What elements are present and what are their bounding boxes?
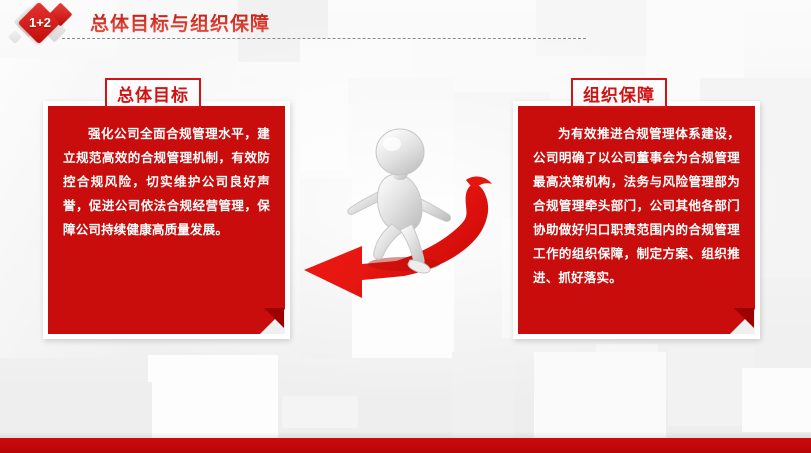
page-title: 总体目标与组织保障 (90, 9, 270, 36)
folded-corner-triangle (734, 308, 754, 328)
card-body-overall-goal: 强化公司全面合规管理水平，建立规范高效的合规管理机制，有效防控合规风险，切实维护… (43, 101, 290, 339)
card-text-organizational-guarantee: 为有效推进合规管理体系建设，公司明确了以公司董事会为合规管理最高决策机构，法务与… (533, 122, 740, 290)
logo-diamond-gray-small (8, 30, 22, 44)
folded-corner-icon (259, 308, 285, 334)
card-inner-organizational-guarantee: 为有效推进合规管理体系建设，公司明确了以公司董事会为合规管理最高决策机构，法务与… (518, 106, 755, 334)
figure-torso (378, 174, 422, 232)
header-divider (62, 38, 586, 39)
folded-corner-triangle (264, 308, 284, 328)
card-title-label: 组织保障 (583, 81, 655, 106)
card-title-organizational-guarantee: 组织保障 (571, 78, 667, 108)
person-riding-red-arrow-icon (300, 118, 505, 303)
logo-label: 1+2 (22, 16, 58, 29)
card-title-label: 总体目标 (117, 81, 189, 106)
card-text-overall-goal: 强化公司全面合规管理水平，建立规范高效的合规管理机制，有效防控合规风险，切实维护… (63, 122, 270, 242)
figure-back-leg (374, 224, 402, 259)
folded-corner-page (259, 308, 285, 334)
card-body-organizational-guarantee: 为有效推进合规管理体系建设，公司明确了以公司董事会为合规管理最高决策机构，法务与… (513, 101, 760, 339)
slide-header: 1+2 总体目标与组织保障 (0, 0, 811, 48)
card-title-overall-goal: 总体目标 (105, 78, 201, 108)
slide-canvas: 1+2 总体目标与组织保障 (0, 0, 811, 453)
bottom-accent-bar (0, 438, 811, 453)
diamond-logo-icon: 1+2 (4, 2, 82, 48)
figure-head-highlight (383, 137, 401, 151)
card-inner-overall-goal: 强化公司全面合规管理水平，建立规范高效的合规管理机制，有效防控合规风险，切实维护… (48, 106, 285, 334)
folded-corner-icon (729, 308, 755, 334)
folded-corner-page (729, 308, 755, 334)
figure-head (376, 129, 424, 175)
